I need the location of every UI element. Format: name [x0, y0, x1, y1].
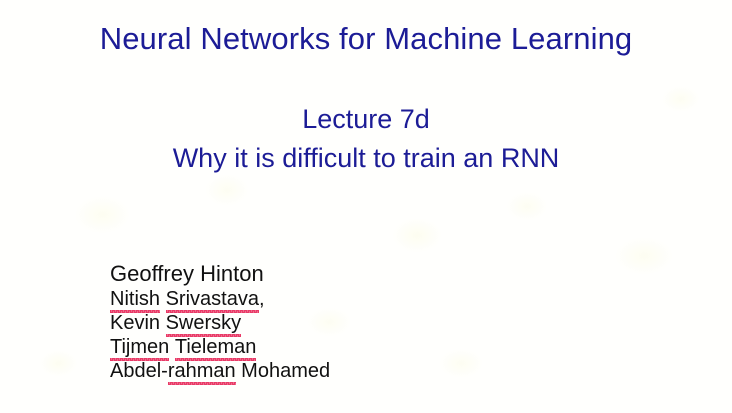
- author-text: ,: [259, 288, 265, 310]
- subtitle-lecture: Lecture 7d: [0, 100, 732, 139]
- misspelled-word: rahman: [168, 359, 236, 383]
- author-text: Abdel-: [110, 360, 168, 382]
- author-line: Kevin Swersky: [110, 311, 330, 335]
- subtitle-topic: Why it is difficult to train an RNN: [0, 139, 732, 178]
- author-text: Kevin: [110, 312, 166, 334]
- author-line: Nitish Srivastava,: [110, 287, 330, 311]
- slide-title: Neural Networks for Machine Learning: [0, 21, 732, 57]
- author-lead: Geoffrey Hinton: [110, 261, 330, 287]
- author-text: Mohamed: [236, 360, 331, 382]
- author-list: Geoffrey Hinton Nitish Srivastava, Kevin…: [110, 261, 330, 383]
- misspelled-word: Tieleman: [175, 335, 257, 359]
- author-line: Abdel-rahman Mohamed: [110, 359, 330, 383]
- author-line: Tijmen Tieleman: [110, 335, 330, 359]
- slide-canvas: Neural Networks for Machine Learning Lec…: [0, 0, 732, 413]
- misspelled-word: Nitish: [110, 287, 160, 311]
- misspelled-word: Tijmen: [110, 335, 169, 359]
- misspelled-word: Swersky: [166, 311, 242, 335]
- misspelled-word: Srivastava: [166, 287, 259, 311]
- slide-subtitle: Lecture 7d Why it is difficult to train …: [0, 100, 732, 178]
